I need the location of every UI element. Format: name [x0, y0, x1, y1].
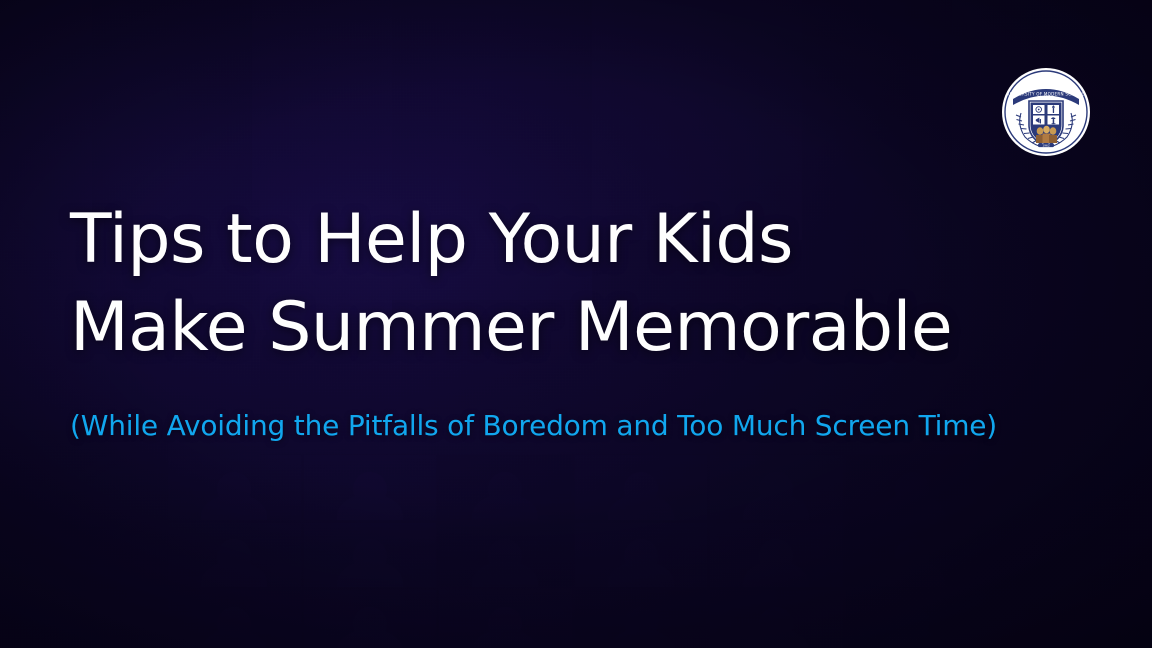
page-title-line-1: Tips to Help Your Kids — [70, 196, 1080, 284]
page-subtitle: (While Avoiding the Pitfalls of Boredom … — [70, 409, 1080, 443]
page-title-line-2: Make Summer Memorable — [70, 284, 1080, 372]
svg-text:UNIVERSITY OF MODERN SCHOOL: UNIVERSITY OF MODERN SCHOOL — [1008, 92, 1085, 97]
svg-text:1962: 1962 — [1042, 143, 1050, 147]
presentation-slide: UNIVERSITY OF MODERN SCHOOL — [0, 0, 1152, 648]
slide-text-block: Tips to Help Your Kids Make Summer Memor… — [70, 196, 1080, 442]
school-crest-logo[interactable]: UNIVERSITY OF MODERN SCHOOL — [1001, 67, 1091, 157]
